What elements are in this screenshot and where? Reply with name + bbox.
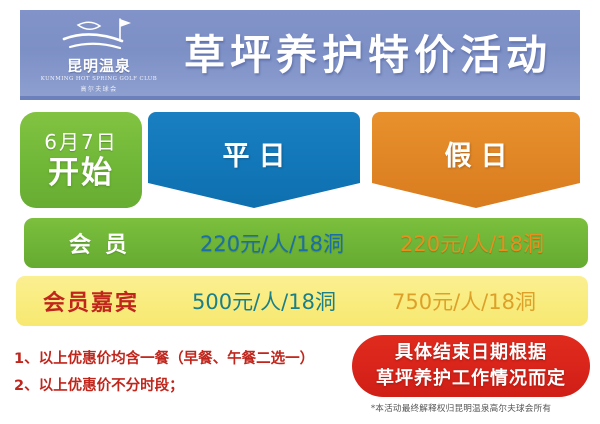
table-row: 会员 220元/人/18洞 220元/人/18洞 bbox=[24, 218, 588, 268]
end-date-badge-line-1: 具体结束日期根据 bbox=[395, 340, 547, 366]
end-date-badge: 具体结束日期根据 草坪养护工作情况而定 bbox=[352, 335, 590, 397]
note-line-1: 1、以上优惠价均含一餐（早餐、午餐二选一） bbox=[14, 346, 374, 373]
row-label-member: 会员 bbox=[24, 227, 172, 259]
price-table: 会员 220元/人/18洞 220元/人/18洞 会员嘉宾 500元/人/18洞… bbox=[16, 218, 588, 334]
start-date-panel: 6月7日 开始 bbox=[20, 112, 142, 208]
page-title: 草坪养护特价活动 bbox=[164, 31, 580, 79]
header-banner: 昆明温泉 KUNMING HOT SPRING GOLF CLUB 高尔夫球会 … bbox=[20, 10, 580, 100]
row-label-member-guest: 会员嘉宾 bbox=[16, 285, 164, 317]
holiday-column-header: 假日 bbox=[372, 112, 580, 208]
logo-subtitle-cn: 高尔夫球会 bbox=[34, 84, 164, 93]
start-date-value: 6月7日 bbox=[44, 130, 117, 154]
promo-poster: 昆明温泉 KUNMING HOT SPRING GOLF CLUB 高尔夫球会 … bbox=[0, 0, 600, 424]
table-row: 会员嘉宾 500元/人/18洞 750元/人/18洞 bbox=[16, 276, 588, 326]
club-logo: 昆明温泉 KUNMING HOT SPRING GOLF CLUB 高尔夫球会 bbox=[34, 13, 164, 97]
category-panels: 6月7日 开始 平日 假日 bbox=[20, 112, 580, 210]
guest-weekday-price: 500元/人/18洞 bbox=[164, 286, 364, 316]
weekday-column-header: 平日 bbox=[148, 112, 360, 208]
start-label: 开始 bbox=[48, 155, 114, 191]
member-weekday-price: 220元/人/18洞 bbox=[172, 228, 372, 258]
disclaimer-text: *本活动最终解释权归昆明温泉高尔夫球会所有 bbox=[330, 402, 592, 414]
guest-holiday-price: 750元/人/18洞 bbox=[364, 286, 564, 316]
member-holiday-price: 220元/人/18洞 bbox=[372, 228, 572, 258]
logo-name-en: KUNMING HOT SPRING GOLF CLUB bbox=[34, 76, 164, 82]
end-date-badge-line-2: 草坪养护工作情况而定 bbox=[376, 366, 566, 392]
terms-notes: 1、以上优惠价均含一餐（早餐、午餐二选一） 2、以上优惠价不分时段； bbox=[14, 346, 374, 400]
weekday-label: 平日 bbox=[214, 134, 295, 173]
holiday-label: 假日 bbox=[436, 134, 517, 173]
note-line-2: 2、以上优惠价不分时段； bbox=[14, 373, 374, 400]
logo-name-cn: 昆明温泉 bbox=[34, 58, 164, 74]
golf-flag-green-logo-icon bbox=[34, 15, 164, 57]
